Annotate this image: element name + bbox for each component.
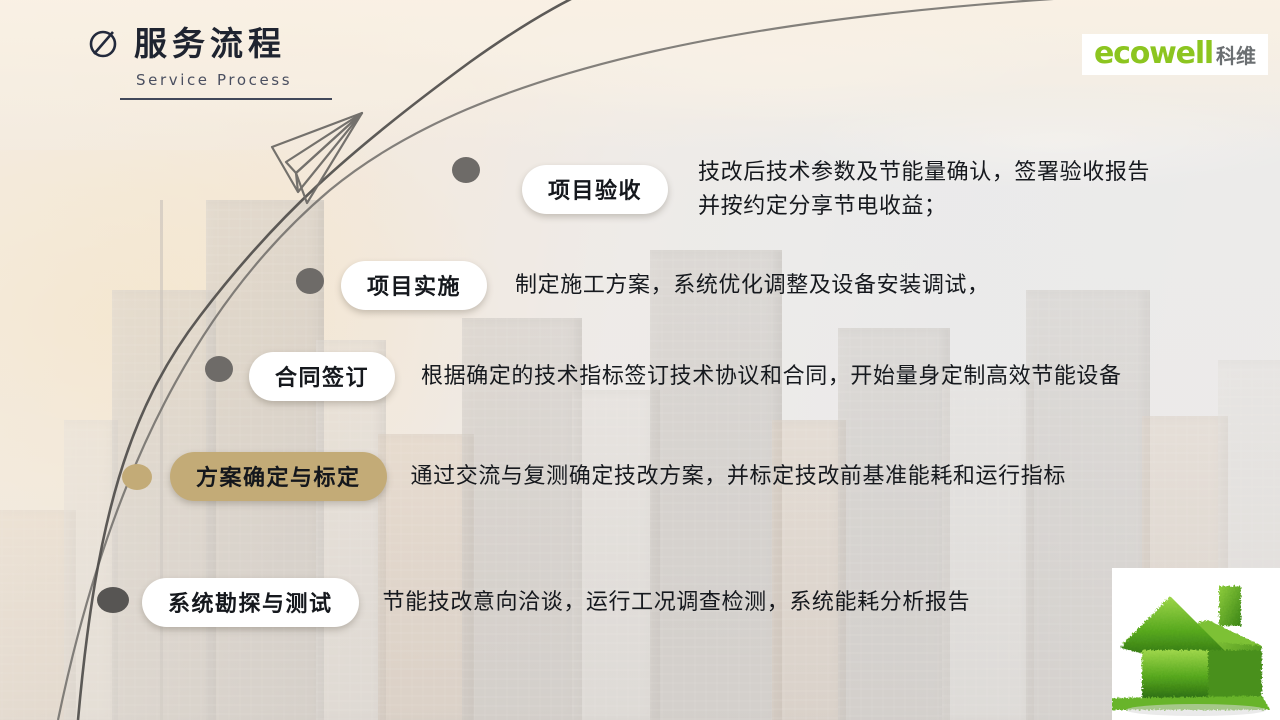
step-row-contract-signing[interactable]: 合同签订 根据确定的技术指标签订技术协议和合同，开始量身定制高效节能设备: [249, 352, 1122, 401]
step-dot-4: [122, 464, 152, 490]
step-row-system-survey-test[interactable]: 系统勘探与测试 节能技改意向洽谈，运行工况调查检测，系统能耗分析报告: [142, 578, 970, 627]
step-dot-5: [97, 587, 129, 613]
page-title: 服务流程: [134, 27, 286, 60]
step-dot-2: [296, 268, 324, 294]
step-desc-line1: 制定施工方案，系统优化调整及设备安装调试，: [515, 272, 990, 297]
step-dot-3: [205, 356, 233, 382]
step-desc-system-survey-test: 节能技改意向洽谈，运行工况调查检测，系统能耗分析报告: [383, 585, 971, 619]
step-desc-line2: 并按约定分享节电收益；: [698, 189, 1150, 223]
step-desc-project-implementation: 制定施工方案，系统优化调整及设备安装调试，: [515, 268, 990, 302]
step-row-project-acceptance[interactable]: 项目验收 技改后技术参数及节能量确认，签署验收报告 并按约定分享节电收益；: [522, 155, 1150, 223]
page-subtitle: Service Process: [136, 71, 416, 89]
step-label-system-survey-test[interactable]: 系统勘探与测试: [142, 578, 359, 627]
step-desc-line1: 节能技改意向洽谈，运行工况调查检测，系统能耗分析报告: [383, 589, 971, 614]
step-label-project-implementation[interactable]: 项目实施: [341, 261, 487, 310]
step-desc-project-acceptance: 技改后技术参数及节能量确认，签署验收报告 并按约定分享节电收益；: [698, 155, 1150, 223]
brand-logo: ecowell 科维: [1082, 34, 1268, 75]
step-label-project-acceptance[interactable]: 项目验收: [522, 165, 668, 214]
slide-header: 服务流程 Service Process: [86, 26, 416, 100]
step-label-contract-signing[interactable]: 合同签订: [249, 352, 395, 401]
slide-canvas: 服务流程 Service Process ecowell 科维 项目验收 技改后…: [0, 0, 1280, 720]
step-label-plan-confirm-calibration[interactable]: 方案确定与标定: [170, 452, 387, 501]
step-row-plan-confirm-calibration[interactable]: 方案确定与标定 通过交流与复测确定技改方案，并标定技改前基准能耗和运行指标: [170, 452, 1066, 501]
step-desc-contract-signing: 根据确定的技术指标签订技术协议和合同，开始量身定制高效节能设备: [421, 359, 1122, 393]
green-house-image: [1112, 568, 1280, 720]
step-desc-line1: 技改后技术参数及节能量确认，签署验收报告: [698, 159, 1150, 184]
title-underline: [120, 98, 332, 100]
step-desc-line1: 通过交流与复测确定技改方案，并标定技改前基准能耗和运行指标: [411, 463, 1066, 488]
brand-name-cn: 科维: [1216, 47, 1256, 67]
step-dot-1: [452, 157, 480, 183]
step-row-project-implementation[interactable]: 项目实施 制定施工方案，系统优化调整及设备安装调试，: [341, 261, 990, 310]
slashed-circle-icon: [86, 26, 120, 60]
step-desc-line1: 根据确定的技术指标签订技术协议和合同，开始量身定制高效节能设备: [421, 363, 1122, 388]
step-desc-plan-confirm-calibration: 通过交流与复测确定技改方案，并标定技改前基准能耗和运行指标: [411, 459, 1066, 493]
brand-name-en: ecowell: [1094, 39, 1213, 69]
